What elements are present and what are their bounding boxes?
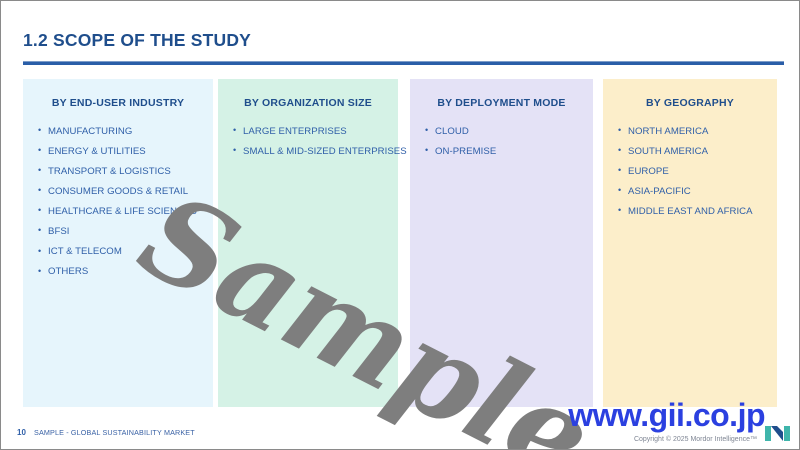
list-item: CONSUMER GOODS & RETAIL	[37, 186, 199, 198]
list-item: OTHERS	[37, 266, 199, 278]
panel-heading: BY GEOGRAPHY	[617, 97, 763, 110]
mordor-intelligence-logo-icon	[763, 423, 793, 443]
list-item: MANUFACTURING	[37, 126, 199, 138]
scope-panel-organization-size: BY ORGANIZATION SIZE LARGE ENTERPRISES S…	[218, 79, 398, 407]
list-item: ASIA-PACIFIC	[617, 186, 763, 198]
list-item: SOUTH AMERICA	[617, 146, 763, 158]
list-item: BFSI	[37, 226, 199, 238]
panel-item-list: NORTH AMERICA SOUTH AMERICA EUROPE ASIA-…	[617, 126, 763, 218]
scope-panel-end-user-industry: BY END-USER INDUSTRY MANUFACTURING ENERG…	[23, 79, 213, 407]
list-item: SMALL & MID-SIZED ENTERPRISES	[232, 146, 384, 158]
panel-item-list: CLOUD ON-PREMISE	[424, 126, 579, 158]
copyright-notice: Copyright © 2025 Mordor Intelligence™	[634, 436, 757, 443]
scope-panels: BY END-USER INDUSTRY MANUFACTURING ENERG…	[23, 79, 777, 407]
page-title: 1.2 SCOPE OF THE STUDY	[23, 30, 251, 51]
gii-url-watermark: www.gii.co.jp	[568, 397, 765, 434]
list-item: ICT & TELECOM	[37, 246, 199, 258]
list-item: ON-PREMISE	[424, 146, 579, 158]
panel-heading: BY ORGANIZATION SIZE	[232, 97, 384, 110]
page-number: 10	[17, 428, 26, 437]
scope-panel-deployment-mode: BY DEPLOYMENT MODE CLOUD ON-PREMISE	[410, 79, 593, 407]
document-label: SAMPLE - GLOBAL SUSTAINABILITY MARKET	[34, 428, 195, 437]
panel-heading: BY END-USER INDUSTRY	[37, 97, 199, 110]
list-item: TRANSPORT & LOGISTICS	[37, 166, 199, 178]
list-item: CLOUD	[424, 126, 579, 138]
list-item: LARGE ENTERPRISES	[232, 126, 384, 138]
list-item: ENERGY & UTILITIES	[37, 146, 199, 158]
list-item: MIDDLE EAST AND AFRICA	[617, 206, 763, 218]
panel-item-list: MANUFACTURING ENERGY & UTILITIES TRANSPO…	[37, 126, 199, 279]
panel-heading: BY DEPLOYMENT MODE	[424, 97, 579, 110]
title-divider	[23, 61, 784, 65]
scope-panel-geography: BY GEOGRAPHY NORTH AMERICA SOUTH AMERICA…	[603, 79, 777, 407]
presentation-slide: 1.2 SCOPE OF THE STUDY BY END-USER INDUS…	[0, 0, 800, 450]
list-item: NORTH AMERICA	[617, 126, 763, 138]
panel-item-list: LARGE ENTERPRISES SMALL & MID-SIZED ENTE…	[232, 126, 384, 158]
list-item: HEALTHCARE & LIFE SCIENCES	[37, 206, 199, 218]
list-item: EUROPE	[617, 166, 763, 178]
